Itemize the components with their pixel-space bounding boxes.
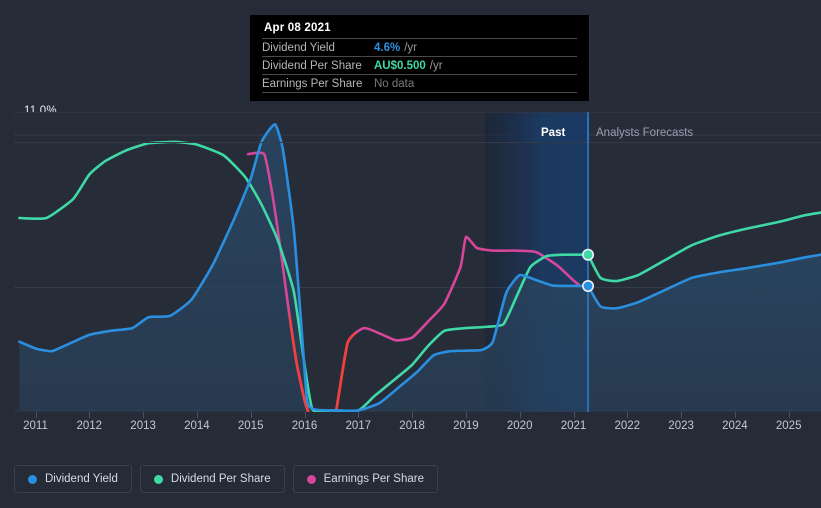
x-axis-tick xyxy=(358,412,359,418)
tooltip-row-value: AU$0.500 xyxy=(374,60,426,72)
x-axis-label: 2015 xyxy=(238,420,264,432)
plot-area xyxy=(14,112,821,412)
tooltip-row-unit: /yr xyxy=(430,60,443,72)
x-axis-label: 2013 xyxy=(130,420,156,432)
tooltip-row-unit: /yr xyxy=(404,42,417,54)
x-axis: 2011201220132014201520162017201820192020… xyxy=(0,412,821,452)
x-axis-tick xyxy=(251,412,252,418)
x-axis-tick xyxy=(305,412,306,418)
x-axis-tick xyxy=(627,412,628,418)
tooltip-row-name: Dividend Per Share xyxy=(262,60,374,72)
x-axis-tick xyxy=(197,412,198,418)
x-axis-tick xyxy=(520,412,521,418)
x-axis-label: 2012 xyxy=(77,420,103,432)
x-axis-tick xyxy=(681,412,682,418)
x-axis-label: 2020 xyxy=(507,420,533,432)
x-axis-tick xyxy=(789,412,790,418)
x-axis-label: 2024 xyxy=(722,420,748,432)
legend-item-dividend-per-share[interactable]: Dividend Per Share xyxy=(140,465,285,493)
x-axis-label: 2025 xyxy=(776,420,802,432)
tooltip-rows: Dividend Yield4.6%/yrDividend Per ShareA… xyxy=(262,38,577,93)
x-axis-tick xyxy=(574,412,575,418)
x-axis-tick xyxy=(143,412,144,418)
x-axis-label: 2021 xyxy=(561,420,587,432)
tooltip-row: Earnings Per ShareNo data xyxy=(262,74,577,93)
x-axis-tick xyxy=(412,412,413,418)
forecast-label: Analysts Forecasts xyxy=(596,127,693,139)
x-axis-tick xyxy=(735,412,736,418)
tooltip-row-value: No data xyxy=(374,78,414,90)
tooltip-row-name: Dividend Yield xyxy=(262,42,374,54)
tooltip-row: Dividend Per ShareAU$0.500/yr xyxy=(262,56,577,74)
chart-legend: Dividend YieldDividend Per ShareEarnings… xyxy=(14,465,438,493)
x-axis-label: 2022 xyxy=(615,420,641,432)
tooltip-row: Dividend Yield4.6%/yr xyxy=(262,38,577,56)
legend-dot-icon xyxy=(154,475,163,484)
legend-item-label: Earnings Per Share xyxy=(324,473,424,485)
phase-header-band xyxy=(14,118,821,143)
x-axis-label: 2017 xyxy=(346,420,372,432)
x-axis-label: 2019 xyxy=(453,420,479,432)
chart-canvas xyxy=(14,112,821,412)
tooltip-date: Apr 08 2021 xyxy=(264,22,577,34)
tooltip-row-name: Earnings Per Share xyxy=(262,78,374,90)
x-axis-tick xyxy=(89,412,90,418)
legend-item-label: Dividend Per Share xyxy=(171,473,271,485)
chart-screenshot: 11.0% 0% Past Analysts Forecasts 2011201… xyxy=(0,0,821,508)
past-label: Past xyxy=(541,127,565,139)
legend-dot-icon xyxy=(307,475,316,484)
chart-tooltip: Apr 08 2021 Dividend Yield4.6%/yrDividen… xyxy=(250,15,591,101)
x-axis-label: 2011 xyxy=(23,420,48,432)
legend-item-dividend-yield[interactable]: Dividend Yield xyxy=(14,465,132,493)
x-axis-label: 2014 xyxy=(184,420,210,432)
x-axis-tick xyxy=(36,412,37,418)
legend-item-label: Dividend Yield xyxy=(45,473,118,485)
x-axis-label: 2016 xyxy=(292,420,318,432)
legend-item-earnings-per-share[interactable]: Earnings Per Share xyxy=(293,465,438,493)
x-axis-tick xyxy=(466,412,467,418)
x-axis-label: 2023 xyxy=(668,420,694,432)
x-axis-label: 2018 xyxy=(399,420,425,432)
tooltip-row-value: 4.6% xyxy=(374,42,400,54)
legend-dot-icon xyxy=(28,475,37,484)
